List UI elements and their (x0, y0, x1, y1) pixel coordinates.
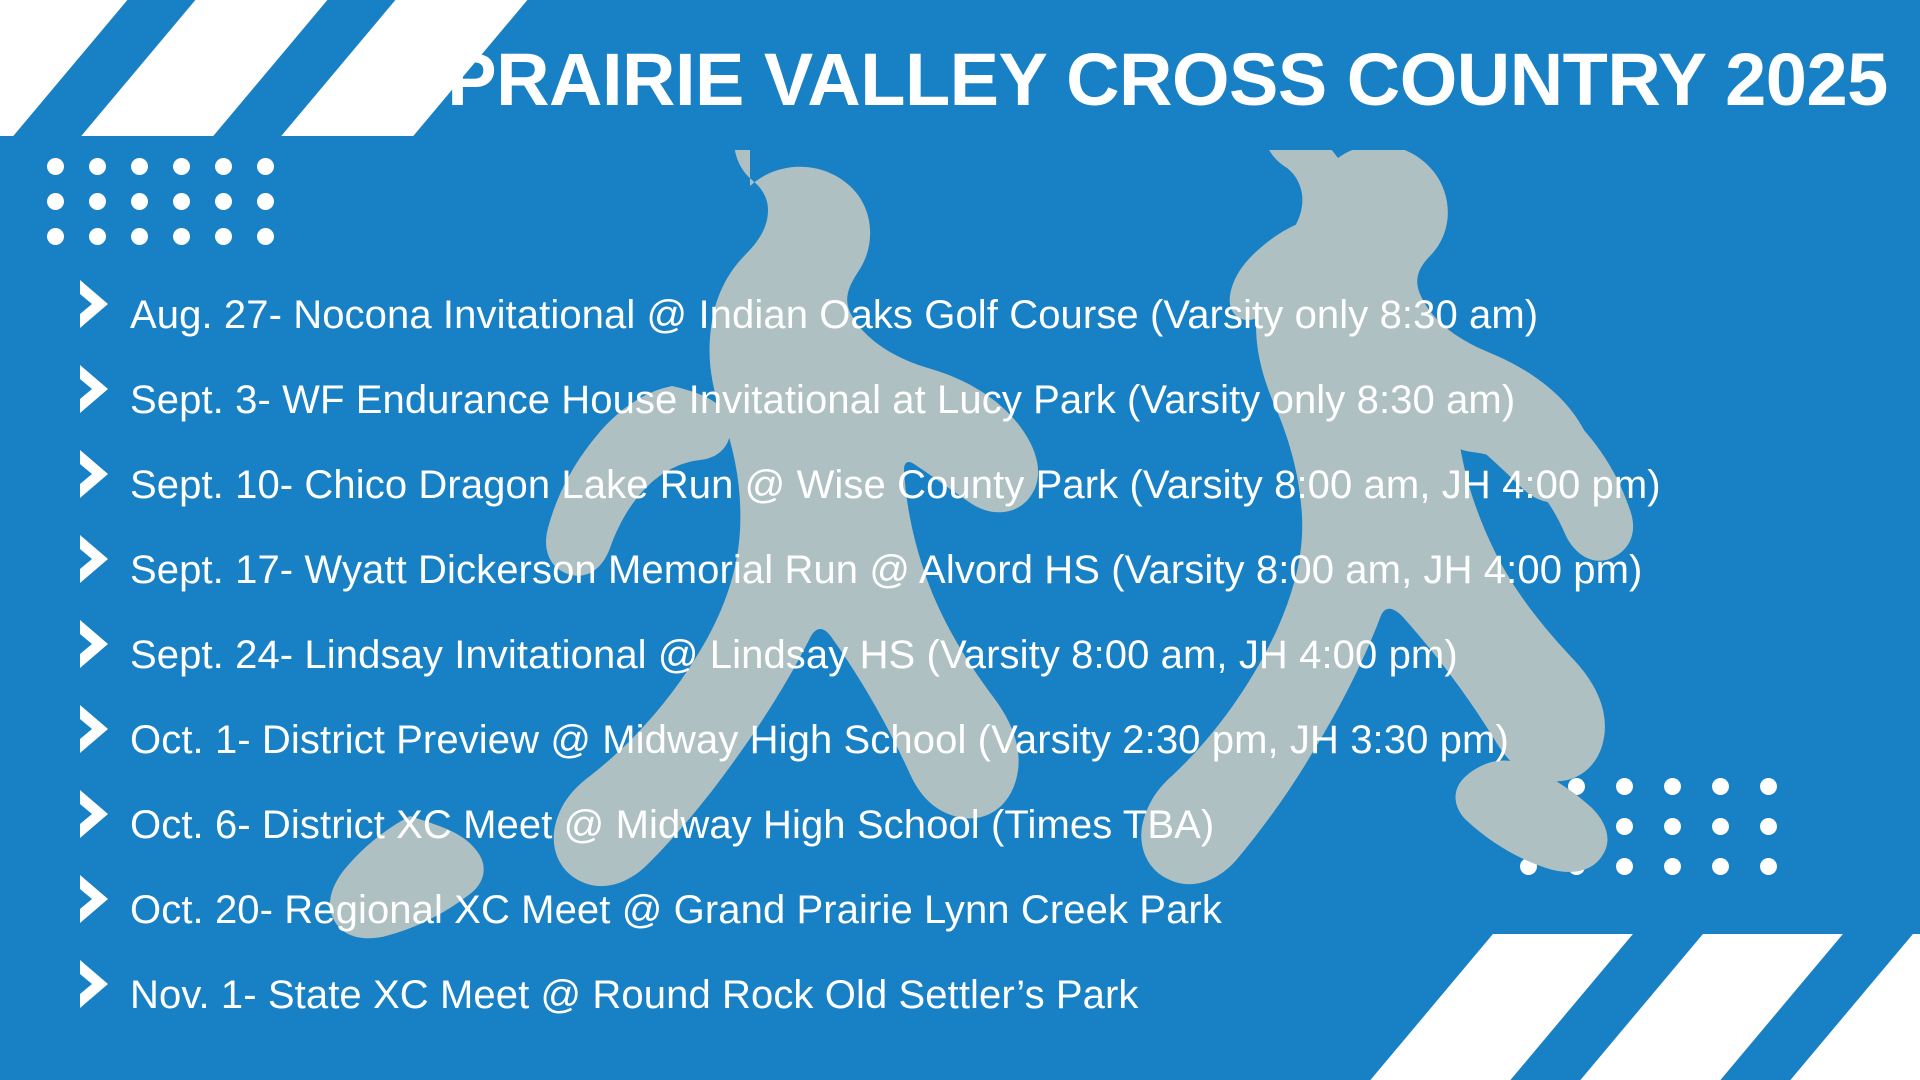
grid-dot (131, 193, 148, 210)
stripe-bar (81, 0, 330, 136)
grid-dot (47, 228, 64, 245)
chevron-right-icon (78, 873, 130, 925)
chevron-right-icon (78, 363, 130, 415)
grid-dot (215, 228, 232, 245)
stripe-bar (0, 0, 131, 136)
grid-dot (257, 228, 274, 245)
grid-dot (89, 158, 106, 175)
event-label: Nov. 1- State XC Meet @ Round Rock Old S… (130, 973, 1139, 1017)
list-item: Aug. 27- Nocona Invitational @ Indian Oa… (78, 276, 1890, 361)
grid-dot (131, 228, 148, 245)
chevron-right-icon (78, 703, 130, 755)
event-label: Aug. 27- Nocona Invitational @ Indian Oa… (130, 293, 1538, 337)
event-label: Sept. 17- Wyatt Dickerson Memorial Run @… (130, 548, 1642, 592)
event-label: Oct. 6- District XC Meet @ Midway High S… (130, 803, 1214, 847)
chevron-right-icon (78, 958, 130, 1010)
dot-grid-top-left (47, 158, 299, 263)
chevron-right-icon (78, 618, 130, 670)
page-title: PRAIRIE VALLEY CROSS COUNTRY 2025 (440, 34, 1895, 126)
chevron-right-icon (78, 448, 130, 500)
grid-dot (257, 193, 274, 210)
chevron-right-icon (78, 788, 130, 840)
poster-canvas: PRAIRIE VALLEY CROSS COUNTRY 2025 Aug. 2… (0, 0, 1920, 1080)
event-label: Oct. 1- District Preview @ Midway High S… (130, 718, 1509, 762)
list-item: Oct. 6- District XC Meet @ Midway High S… (78, 786, 1890, 871)
grid-dot (173, 228, 190, 245)
chevron-right-icon (78, 533, 130, 585)
grid-dot (47, 193, 64, 210)
list-item: Sept. 10- Chico Dragon Lake Run @ Wise C… (78, 446, 1890, 531)
grid-dot (89, 228, 106, 245)
list-item: Oct. 1- District Preview @ Midway High S… (78, 701, 1890, 786)
schedule-list: Aug. 27- Nocona Invitational @ Indian Oa… (78, 276, 1890, 1041)
list-item: Oct. 20- Regional XC Meet @ Grand Prairi… (78, 871, 1890, 956)
list-item: Sept. 24- Lindsay Invitational @ Lindsay… (78, 616, 1890, 701)
grid-dot (257, 158, 274, 175)
list-item: Sept. 3- WF Endurance House Invitational… (78, 361, 1890, 446)
chevron-right-icon (78, 278, 130, 330)
grid-dot (215, 193, 232, 210)
grid-dot (215, 158, 232, 175)
event-label: Sept. 3- WF Endurance House Invitational… (130, 378, 1515, 422)
list-item: Nov. 1- State XC Meet @ Round Rock Old S… (78, 956, 1890, 1041)
event-label: Sept. 10- Chico Dragon Lake Run @ Wise C… (130, 463, 1661, 507)
grid-dot (47, 158, 64, 175)
grid-dot (89, 193, 106, 210)
event-label: Sept. 24- Lindsay Invitational @ Lindsay… (130, 633, 1458, 677)
grid-dot (173, 158, 190, 175)
event-label: Oct. 20- Regional XC Meet @ Grand Prairi… (130, 888, 1222, 932)
grid-dot (173, 193, 190, 210)
list-item: Sept. 17- Wyatt Dickerson Memorial Run @… (78, 531, 1890, 616)
grid-dot (131, 158, 148, 175)
